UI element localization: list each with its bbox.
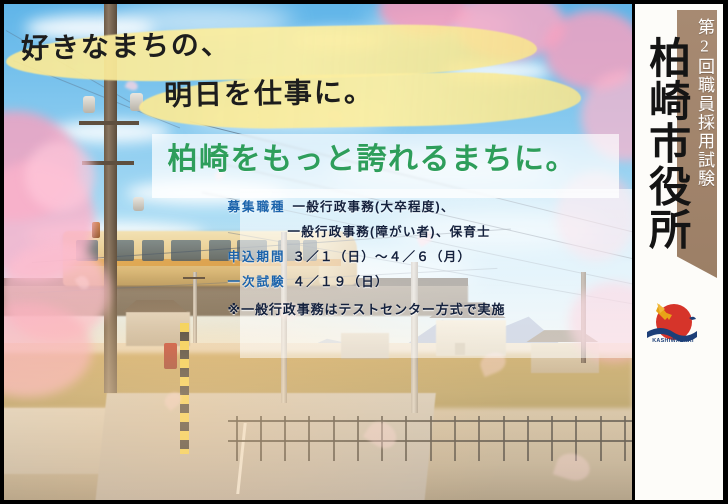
detail-row-job-type-cont: 一般行政事務(障がい者)、保育士	[288, 221, 632, 240]
pole-transformer	[83, 96, 95, 113]
logo-wordmark: KASHIWAZAKI	[644, 338, 702, 344]
crossing-signal-sign	[164, 343, 177, 369]
fence-bar	[527, 416, 529, 461]
fence-bar	[430, 416, 432, 461]
detail-value: ４／１９（日）	[293, 271, 389, 290]
recruitment-poster: 好きなまちの、 明日を仕事に。 柏崎をもっと誇れるまちに。 募集職種 一般行政事…	[0, 0, 728, 504]
fence-bar	[405, 416, 407, 461]
background-photograph: 好きなまちの、 明日を仕事に。 柏崎をもっと誇れるまちに。 募集職種 一般行政事…	[0, 0, 632, 504]
fence-bar	[284, 416, 286, 461]
pole-transformer	[133, 197, 144, 211]
fence-bar	[503, 416, 505, 461]
details-list: 募集職種 一般行政事務(大卒程度)、 一般行政事務(障がい者)、保育士 申込期間…	[228, 190, 632, 318]
fence-bar	[357, 416, 359, 461]
fence-bar	[308, 416, 310, 461]
headline-line-2: 明日を仕事に。	[164, 70, 374, 114]
organization-title: 柏崎市役所	[643, 36, 687, 250]
fence-bar	[236, 416, 238, 461]
detail-value: 一般行政事務(障がい者)、保育士	[288, 221, 491, 240]
exam-method-note: ※一般行政事務はテストセンター方式で実施	[228, 299, 632, 318]
headline-line-1: 好きなまちの、	[21, 23, 232, 67]
pole-crossarm	[183, 277, 205, 279]
detail-label: 募集職種	[228, 196, 286, 215]
fence-bar	[478, 416, 480, 461]
fence-bar	[624, 416, 626, 461]
detail-row-first-exam: 一次試験 ４／１９（日）	[228, 271, 632, 290]
detail-label: 一次試験	[228, 271, 286, 290]
train-window	[142, 240, 164, 261]
tagline: 柏崎をもっと誇れるまちに。	[167, 134, 577, 178]
detail-row-job-type: 募集職種 一般行政事務(大卒程度)、	[228, 196, 632, 215]
detail-value: 一般行政事務(大卒程度)、	[293, 196, 455, 215]
utility-pole	[193, 272, 197, 343]
pole-crossarm	[79, 121, 139, 125]
fence-bar	[260, 416, 262, 461]
railway-crossing-barrier	[180, 323, 189, 454]
fence-bar	[454, 416, 456, 461]
detail-row-application-period: 申込期間 ３／１（日）～４／６（月）	[228, 246, 632, 265]
cherry-blossom-cluster	[25, 141, 95, 211]
fence-bar	[600, 416, 602, 461]
detail-label: 申込期間	[228, 246, 286, 265]
detail-value: ３／１（日）～４／６（月）	[293, 246, 472, 265]
fence-bar	[551, 416, 553, 461]
fence-bar	[333, 416, 335, 461]
sidebar-panel: 第2回職員採用試験 柏崎市役所 KASHIWAZAKI	[632, 0, 728, 504]
